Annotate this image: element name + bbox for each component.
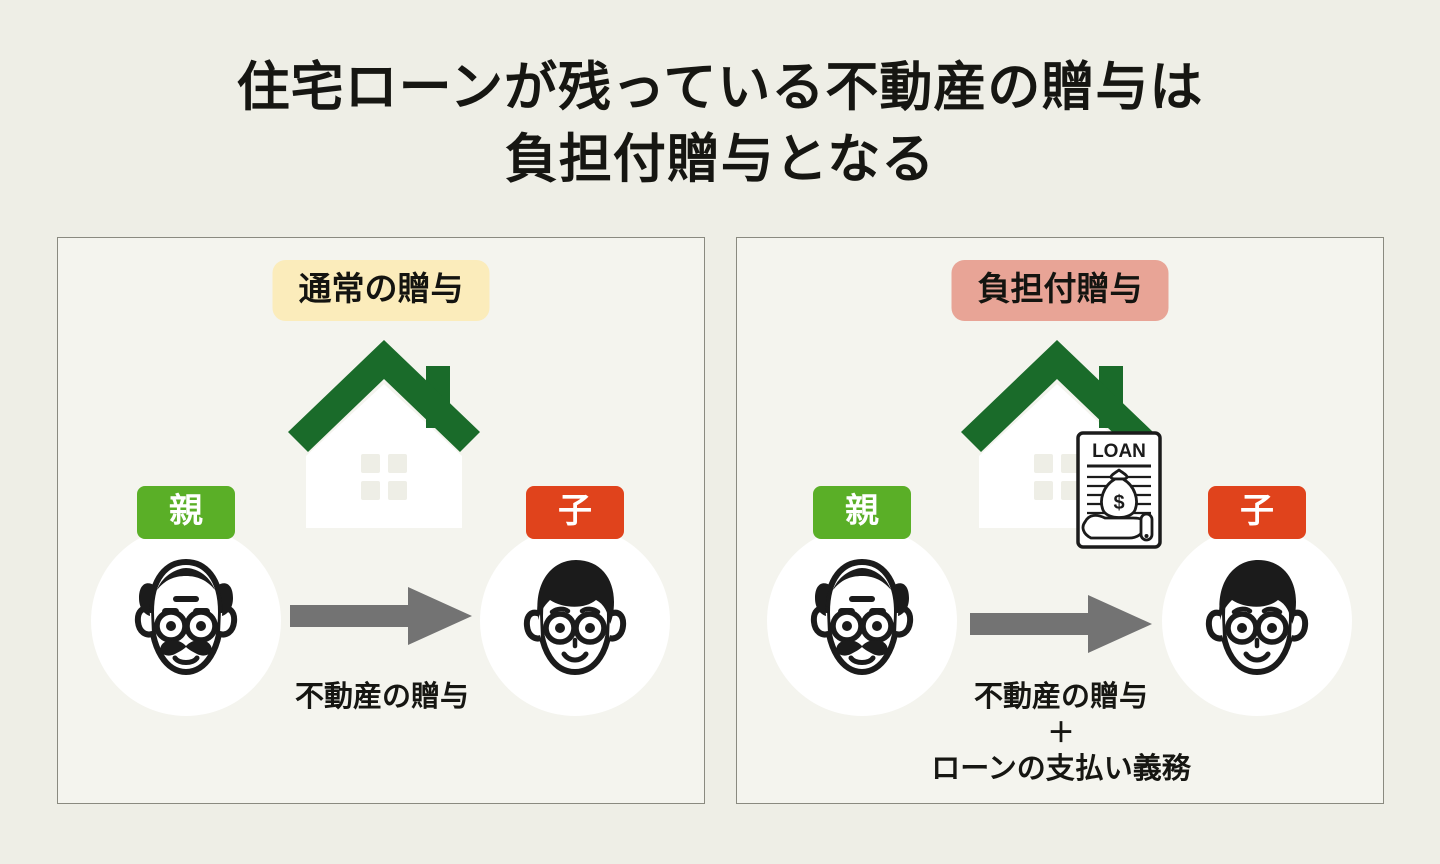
page-title-line-1: 住宅ローンが残っている不動産の贈与は <box>0 52 1440 124</box>
panel-normal-gift: 通常の贈与 親 <box>57 237 705 804</box>
right-arrow-icon <box>970 593 1152 655</box>
right-arrow-icon <box>290 585 472 647</box>
caption-normal-gift: 不動産の贈与 <box>58 678 706 717</box>
page-title-line-2: 負担付贈与となる <box>0 124 1440 196</box>
caption-gift-with-burden: 不動産の贈与 ＋ ローンの支払い義務 <box>737 678 1385 789</box>
svg-text:LOAN: LOAN <box>1092 441 1146 462</box>
caption-line: 不動産の贈与 <box>58 678 706 717</box>
category-badge-normal-gift: 通常の贈与 <box>273 260 490 321</box>
house-icon <box>284 336 484 531</box>
caption-line: ローンの支払い義務 <box>737 750 1385 789</box>
page-title: 住宅ローンが残っている不動産の贈与は 負担付贈与となる <box>0 52 1440 196</box>
role-badge-child: 子 <box>526 486 624 539</box>
role-badge-parent: 親 <box>813 486 911 539</box>
caption-plus: ＋ <box>737 717 1385 750</box>
loan-document-icon: LOAN $ <box>1075 430 1163 550</box>
role-badge-parent: 親 <box>137 486 235 539</box>
caption-line: 不動産の贈与 <box>737 678 1385 717</box>
panel-gift-with-burden: 負担付贈与 LOAN <box>736 237 1384 804</box>
svg-text:$: $ <box>1113 492 1124 514</box>
category-badge-gift-with-burden: 負担付贈与 <box>952 260 1169 321</box>
infographic-root: 住宅ローンが残っている不動産の贈与は 負担付贈与となる 通常の贈与 親 <box>0 0 1440 864</box>
role-badge-child: 子 <box>1208 486 1306 539</box>
